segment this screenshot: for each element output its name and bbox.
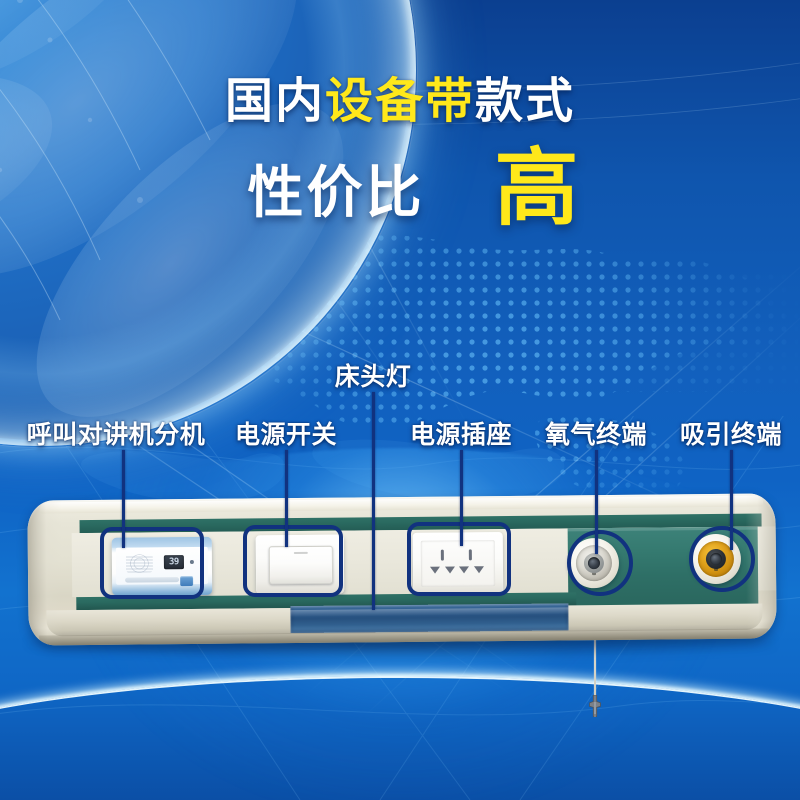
callout-oxygen-label: 氧气终端 (545, 415, 647, 451)
callout-power-socket-label: 电源插座 (410, 415, 512, 451)
callout-oxygen-leader (595, 450, 598, 554)
callout-power-socket-leader (460, 450, 463, 546)
callout-bed-lamp-leader (372, 392, 375, 610)
callout-intercom-leader (122, 450, 125, 548)
callout-suction-label: 吸引终端 (680, 415, 782, 451)
callout-suction-leader (730, 450, 733, 550)
callout-power-switch-label: 电源开关 (235, 415, 337, 451)
callout-bed-lamp-label: 床头灯 (335, 357, 412, 393)
promo-banner: 国内设备带款式 性价比 高 呼叫对讲机分机 电源开关 床头灯 电源插座 氧气终端 (0, 0, 800, 800)
callout-power-switch-leader (285, 450, 288, 547)
callout-layer: 呼叫对讲机分机 电源开关 床头灯 电源插座 氧气终端 吸引终端 (0, 0, 800, 800)
callout-intercom-label: 呼叫对讲机分机 (27, 415, 206, 451)
